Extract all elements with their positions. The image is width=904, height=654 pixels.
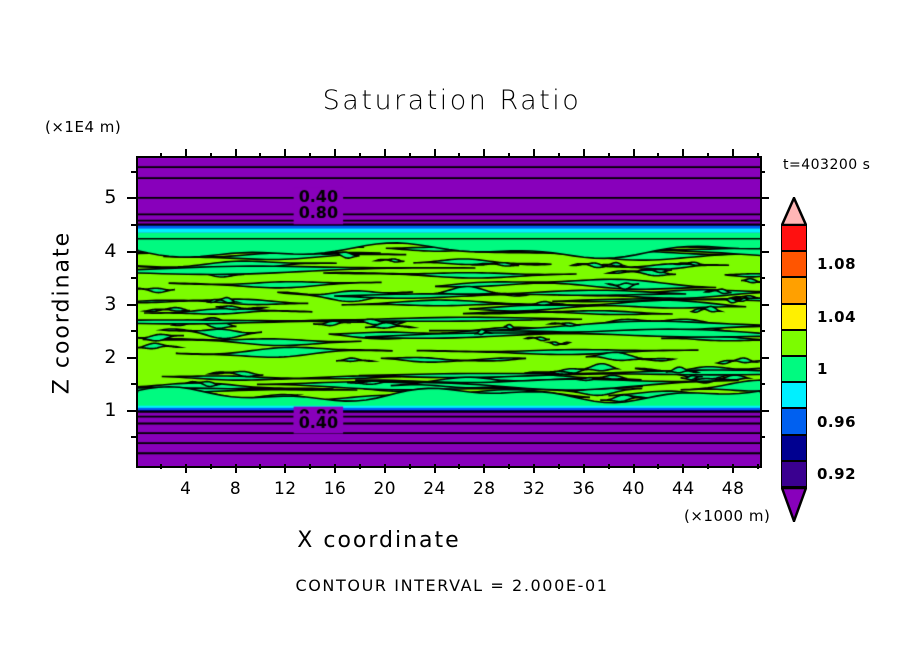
time-annotation: t=403200 s xyxy=(783,157,870,173)
x-tick-label: 20 xyxy=(365,479,405,499)
x-tick-minor xyxy=(657,153,659,158)
x-tick-major xyxy=(483,464,485,473)
x-axis-title: X coordinate xyxy=(0,528,758,553)
y-tick-minor xyxy=(131,224,136,226)
x-tick-label: 40 xyxy=(614,479,654,499)
colorbar-segment xyxy=(781,277,807,303)
y-tick-major xyxy=(760,197,769,199)
colorbar-segment xyxy=(781,408,807,434)
y-tick-major xyxy=(127,251,136,253)
x-tick-minor xyxy=(657,464,659,469)
y-tick-label: 5 xyxy=(95,186,117,208)
x-axis-unit-label: (×1000 m) xyxy=(684,507,770,525)
y-tick-major xyxy=(127,357,136,359)
x-tick-minor xyxy=(210,464,212,469)
y-tick-major xyxy=(127,410,136,412)
colorbar-tick-label: 0.92 xyxy=(817,465,856,483)
x-tick-major xyxy=(583,149,585,158)
figure-root: Saturation Ratio (×1E4 m) (×1000 m) t=40… xyxy=(0,0,904,654)
x-tick-major xyxy=(384,464,386,473)
x-tick-minor xyxy=(309,464,311,469)
y-tick-major xyxy=(127,197,136,199)
x-tick-label: 24 xyxy=(415,479,455,499)
x-tick-label: 16 xyxy=(315,479,355,499)
colorbar-segment xyxy=(781,330,807,356)
x-tick-minor xyxy=(508,153,510,158)
colorbar-top-cap xyxy=(781,197,807,225)
colorbar-segment xyxy=(781,251,807,277)
x-tick-major xyxy=(633,149,635,158)
x-tick-major xyxy=(334,464,336,473)
x-tick-minor xyxy=(508,464,510,469)
x-tick-minor xyxy=(558,153,560,158)
x-tick-major xyxy=(235,464,237,473)
x-tick-major xyxy=(583,464,585,473)
x-tick-minor xyxy=(458,153,460,158)
y-tick-minor xyxy=(760,277,765,279)
y-tick-minor xyxy=(760,224,765,226)
x-tick-major xyxy=(533,149,535,158)
y-tick-major xyxy=(760,251,769,253)
colorbar-segment xyxy=(781,304,807,330)
y-tick-minor xyxy=(131,436,136,438)
colorbar-tick-label: 1 xyxy=(817,360,828,378)
y-axis-unit-label: (×1E4 m) xyxy=(45,118,121,136)
x-tick-minor xyxy=(259,153,261,158)
x-tick-major xyxy=(434,149,436,158)
contour-field-canvas xyxy=(138,158,760,466)
x-tick-major xyxy=(434,464,436,473)
x-tick-minor xyxy=(757,464,759,469)
y-tick-label: 3 xyxy=(95,293,117,315)
y-tick-label: 2 xyxy=(95,346,117,368)
y-tick-minor xyxy=(760,330,765,332)
x-tick-major xyxy=(633,464,635,473)
y-tick-label: 1 xyxy=(95,399,117,421)
x-tick-minor xyxy=(409,464,411,469)
x-tick-minor xyxy=(558,464,560,469)
colorbar-tick-label: 1.08 xyxy=(817,255,856,273)
x-tick-major xyxy=(384,149,386,158)
x-tick-minor xyxy=(608,464,610,469)
x-tick-label: 32 xyxy=(514,479,554,499)
x-tick-minor xyxy=(259,464,261,469)
y-tick-major xyxy=(760,357,769,359)
y-tick-major xyxy=(760,410,769,412)
x-tick-major xyxy=(185,464,187,473)
contour-plot-area xyxy=(136,156,762,468)
y-tick-minor xyxy=(131,383,136,385)
colorbar: 1.081.0410.960.92 xyxy=(781,197,807,520)
y-tick-minor xyxy=(760,436,765,438)
y-tick-major xyxy=(127,304,136,306)
x-tick-major xyxy=(483,149,485,158)
x-tick-major xyxy=(334,149,336,158)
x-tick-major xyxy=(732,464,734,473)
y-tick-minor xyxy=(760,383,765,385)
x-tick-minor xyxy=(160,153,162,158)
x-tick-minor xyxy=(409,153,411,158)
y-axis-title: Z coordinate xyxy=(50,223,75,403)
x-tick-minor xyxy=(309,153,311,158)
x-tick-major xyxy=(732,149,734,158)
x-tick-major xyxy=(533,464,535,473)
x-tick-major xyxy=(284,464,286,473)
x-tick-major xyxy=(682,149,684,158)
y-tick-minor xyxy=(131,330,136,332)
y-tick-minor xyxy=(760,171,765,173)
y-tick-label: 4 xyxy=(95,240,117,262)
colorbar-segment xyxy=(781,435,807,461)
y-tick-minor xyxy=(131,171,136,173)
y-tick-minor xyxy=(131,277,136,279)
x-tick-minor xyxy=(210,153,212,158)
x-tick-label: 12 xyxy=(265,479,305,499)
x-tick-minor xyxy=(359,153,361,158)
x-tick-minor xyxy=(458,464,460,469)
x-tick-label: 8 xyxy=(216,479,256,499)
colorbar-tick-label: 1.04 xyxy=(817,308,856,326)
x-tick-major xyxy=(185,149,187,158)
x-tick-minor xyxy=(707,153,709,158)
colorbar-segment xyxy=(781,356,807,382)
x-tick-label: 48 xyxy=(713,479,753,499)
x-tick-minor xyxy=(160,464,162,469)
x-tick-minor xyxy=(359,464,361,469)
x-tick-label: 28 xyxy=(464,479,504,499)
y-tick-major xyxy=(760,304,769,306)
x-tick-label: 44 xyxy=(663,479,703,499)
x-tick-minor xyxy=(608,153,610,158)
contour-interval-label: CONTOUR INTERVAL = 2.000E-01 xyxy=(0,576,904,595)
x-tick-minor xyxy=(707,464,709,469)
chart-title: Saturation Ratio xyxy=(0,85,904,116)
colorbar-segment xyxy=(781,225,807,251)
x-tick-label: 4 xyxy=(166,479,206,499)
colorbar-segment xyxy=(781,461,807,487)
x-tick-major xyxy=(682,464,684,473)
x-tick-major xyxy=(235,149,237,158)
x-tick-label: 36 xyxy=(564,479,604,499)
colorbar-bottom-cap xyxy=(781,487,807,522)
colorbar-segment xyxy=(781,382,807,408)
x-tick-minor xyxy=(757,153,759,158)
x-tick-major xyxy=(284,149,286,158)
colorbar-tick-label: 0.96 xyxy=(817,413,856,431)
